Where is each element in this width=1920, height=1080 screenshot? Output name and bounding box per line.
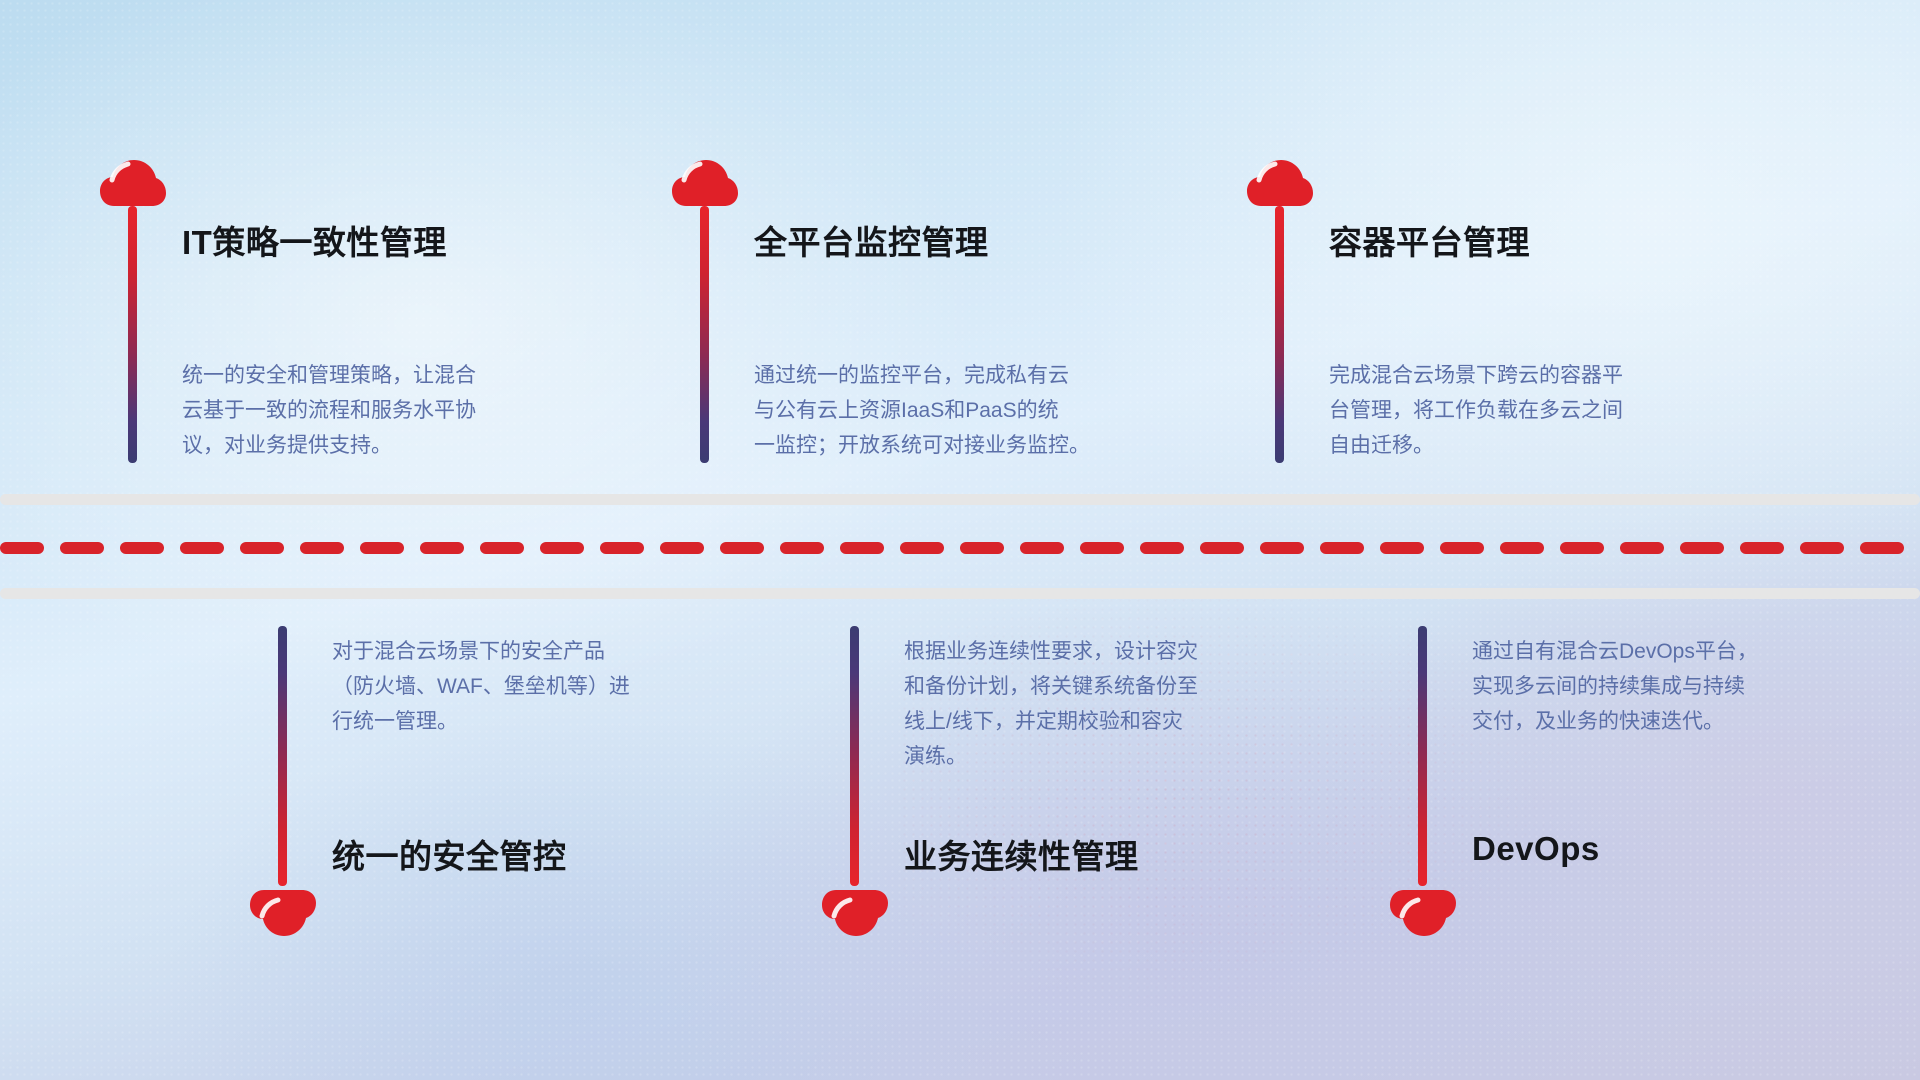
body-line: 交付，及业务的快速迭代。 [1472,704,1892,739]
timeline-stem [128,206,137,463]
bottom-heading-1: 统一的安全管控 [332,830,567,878]
cloud-icon [1247,160,1313,208]
timeline-stem [1275,206,1284,463]
body-line: 根据业务连续性要求，设计容灾 [904,634,1324,669]
body-line: 云基于一致的流程和服务水平协 [182,393,602,428]
bottom-body-1: 对于混合云场景下的安全产品 （防火墙、WAF、堡垒机等）进 行统一管理。 [332,634,752,739]
divider-dash [1200,542,1244,554]
divider-dash [540,542,584,554]
divider-dash [1860,542,1904,554]
body-line: 对于混合云场景下的安全产品 [332,634,752,669]
cloud-icon [672,160,738,208]
divider-dash [780,542,824,554]
divider-dash [480,542,524,554]
divider-dash [1620,542,1664,554]
divider-dash [1260,542,1304,554]
divider-dash [1140,542,1184,554]
body-line: 行统一管理。 [332,704,752,739]
top-body-2: 通过统一的监控平台，完成私有云 与公有云上资源IaaS和PaaS的统 一监控；开… [754,358,1174,463]
timeline-stem [1418,626,1427,886]
divider-dash [900,542,944,554]
body-line: 和备份计划，将关键系统备份至 [904,669,1324,704]
divider-dash [120,542,164,554]
divider-dash [1380,542,1424,554]
cloud-icon [250,888,316,936]
bottom-heading-2: 业务连续性管理 [904,830,1139,878]
body-line: 议，对业务提供支持。 [182,428,602,463]
divider-dash [1800,542,1844,554]
divider-dash [420,542,464,554]
cloud-icon [1390,888,1456,936]
divider-dash [1680,542,1724,554]
bottom-body-3: 通过自有混合云DevOps平台， 实现多云间的持续集成与持续 交付，及业务的快速… [1472,634,1892,739]
body-line: 线上/线下，并定期校验和容灾 [904,704,1324,739]
dashed-divider [0,542,1920,554]
timeline-stem [278,626,287,886]
body-line: 通过自有混合云DevOps平台， [1472,634,1892,669]
divider-rule-top [0,494,1920,505]
body-line: （防火墙、WAF、堡垒机等）进 [332,669,752,704]
divider-dash [1740,542,1784,554]
divider-dash [0,542,44,554]
divider-dash [180,542,224,554]
divider-dash [660,542,704,554]
divider-dash [360,542,404,554]
body-line: 统一的安全和管理策略，让混合 [182,358,602,393]
body-line: 与公有云上资源IaaS和PaaS的统 [754,393,1174,428]
top-heading-3: 容器平台管理 [1329,216,1530,264]
body-line: 完成混合云场景下跨云的容器平 [1329,358,1749,393]
timeline-stem [700,206,709,463]
divider-dash [720,542,764,554]
timeline-stem [850,626,859,886]
infographic-canvas: IT策略一致性管理 统一的安全和管理策略，让混合 云基于一致的流程和服务水平协 … [0,0,1920,1080]
divider-dash [1020,542,1064,554]
divider-dash [240,542,284,554]
bottom-heading-3: DevOps [1472,830,1600,868]
bottom-body-2: 根据业务连续性要求，设计容灾 和备份计划，将关键系统备份至 线上/线下，并定期校… [904,634,1324,774]
divider-dash [1320,542,1364,554]
body-line: 实现多云间的持续集成与持续 [1472,669,1892,704]
divider-rule-bottom [0,588,1920,599]
divider-dash [960,542,1004,554]
top-body-3: 完成混合云场景下跨云的容器平 台管理，将工作负载在多云之间 自由迁移。 [1329,358,1749,463]
divider-dash [1500,542,1544,554]
divider-dash [300,542,344,554]
body-line: 演练。 [904,739,1324,774]
divider-dash [600,542,644,554]
divider-dash [840,542,884,554]
top-heading-1: IT策略一致性管理 [182,216,447,264]
divider-dash [60,542,104,554]
body-line: 台管理，将工作负载在多云之间 [1329,393,1749,428]
cloud-icon [100,160,166,208]
cloud-icon [822,888,888,936]
body-line: 通过统一的监控平台，完成私有云 [754,358,1174,393]
top-heading-2: 全平台监控管理 [754,216,989,264]
top-body-1: 统一的安全和管理策略，让混合 云基于一致的流程和服务水平协 议，对业务提供支持。 [182,358,602,463]
divider-dash [1560,542,1604,554]
body-line: 自由迁移。 [1329,428,1749,463]
divider-dash [1440,542,1484,554]
divider-dash [1080,542,1124,554]
background-pink-dot-texture [900,560,1600,1020]
body-line: 一监控；开放系统可对接业务监控。 [754,428,1174,463]
